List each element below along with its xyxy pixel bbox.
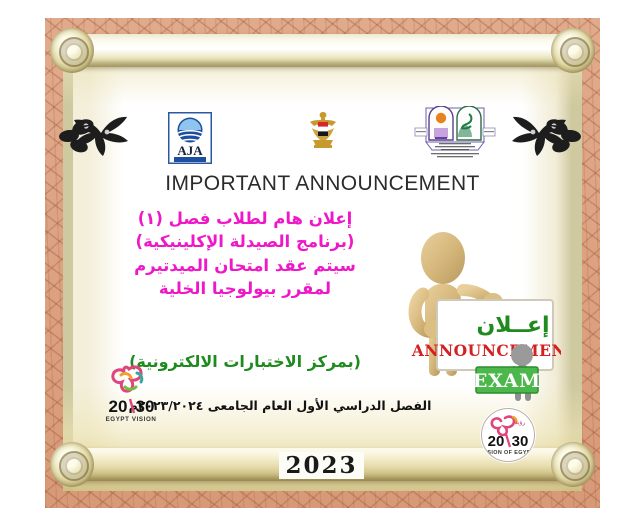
exam-sign-graphic: EXAM xyxy=(470,343,556,401)
svg-text:30: 30 xyxy=(512,433,529,450)
svg-text:30: 30 xyxy=(136,397,155,416)
egypt-eagle-emblem-icon xyxy=(306,108,340,154)
arabic-line-4: لمقرر بيولوجيا الخلية xyxy=(80,277,410,300)
svg-text:EGYPT VISION: EGYPT VISION xyxy=(106,416,157,423)
scroll-rod-top xyxy=(50,28,595,74)
scroll-rod-bar xyxy=(66,34,579,67)
poster-canvas: AJA xyxy=(0,0,643,529)
scroll-cap-right xyxy=(551,28,595,73)
egypt-vision-2030-logo-icon: 20 30 EGYPT VISION xyxy=(105,363,157,425)
svg-text:EXAM: EXAM xyxy=(473,370,541,392)
svg-text:20: 20 xyxy=(109,397,128,416)
announcement-body-arabic: إعلان هام لطلاب فصل (١) (برنامج الصيدلة … xyxy=(80,207,410,301)
decorative-year-text: 2023 xyxy=(279,452,363,479)
arabic-line-1: إعلان هام لطلاب فصل (١) xyxy=(80,207,410,230)
faculty-of-pharmacy-logo-icon xyxy=(413,106,497,160)
decorative-year: 2023 xyxy=(0,452,643,479)
svg-text:إعــلان: إعــلان xyxy=(476,313,549,338)
aja-registrars-logo-icon: AJA xyxy=(168,112,212,164)
page-title: IMPORTANT ANNOUNCEMENT xyxy=(63,172,582,196)
scroll-cap-left xyxy=(50,28,94,73)
svg-text:رؤية: رؤية xyxy=(515,419,526,426)
arabic-line-2: (برنامج الصيدلة الإكلينيكية) xyxy=(80,230,410,253)
header-logo-row: AJA xyxy=(63,104,582,166)
svg-text:20: 20 xyxy=(488,433,505,450)
arabic-line-3: سيتم عقد امتحان الميدتيرم xyxy=(80,254,410,277)
svg-text:AJA: AJA xyxy=(177,143,203,158)
